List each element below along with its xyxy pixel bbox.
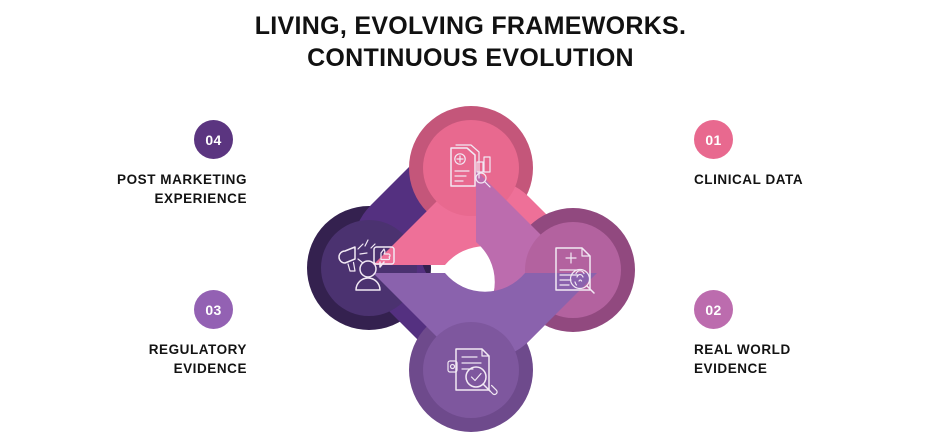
badge-03: 03 xyxy=(194,290,233,329)
page-title: LIVING, EVOLVING FRAMEWORKS. CONTINUOUS … xyxy=(0,10,941,74)
page-title-line-1: LIVING, EVOLVING FRAMEWORKS. xyxy=(0,10,941,42)
label-post-marketing-experience: POST MARKETING EXPERIENCE xyxy=(82,170,247,208)
badge-02: 02 xyxy=(694,290,733,329)
badge-04: 04 xyxy=(194,120,233,159)
four-petal-cycle-diagram xyxy=(297,104,644,433)
item-post-marketing-experience[interactable]: 04 POST MARKETING EXPERIENCE xyxy=(82,120,247,208)
item-real-world-evidence[interactable]: 02 REAL WORLD EVIDENCE xyxy=(694,290,894,378)
inner-circle-03 xyxy=(423,322,519,418)
item-regulatory-evidence[interactable]: 03 REGULATORY EVIDENCE xyxy=(82,290,247,378)
label-real-world-evidence: REAL WORLD EVIDENCE xyxy=(694,340,894,378)
item-clinical-data[interactable]: 01 CLINICAL DATA xyxy=(694,120,894,189)
label-clinical-data: CLINICAL DATA xyxy=(694,170,894,189)
page-title-line-2: CONTINUOUS EVOLUTION xyxy=(0,42,941,74)
badge-01: 01 xyxy=(694,120,733,159)
label-regulatory-evidence: REGULATORY EVIDENCE xyxy=(82,340,247,378)
